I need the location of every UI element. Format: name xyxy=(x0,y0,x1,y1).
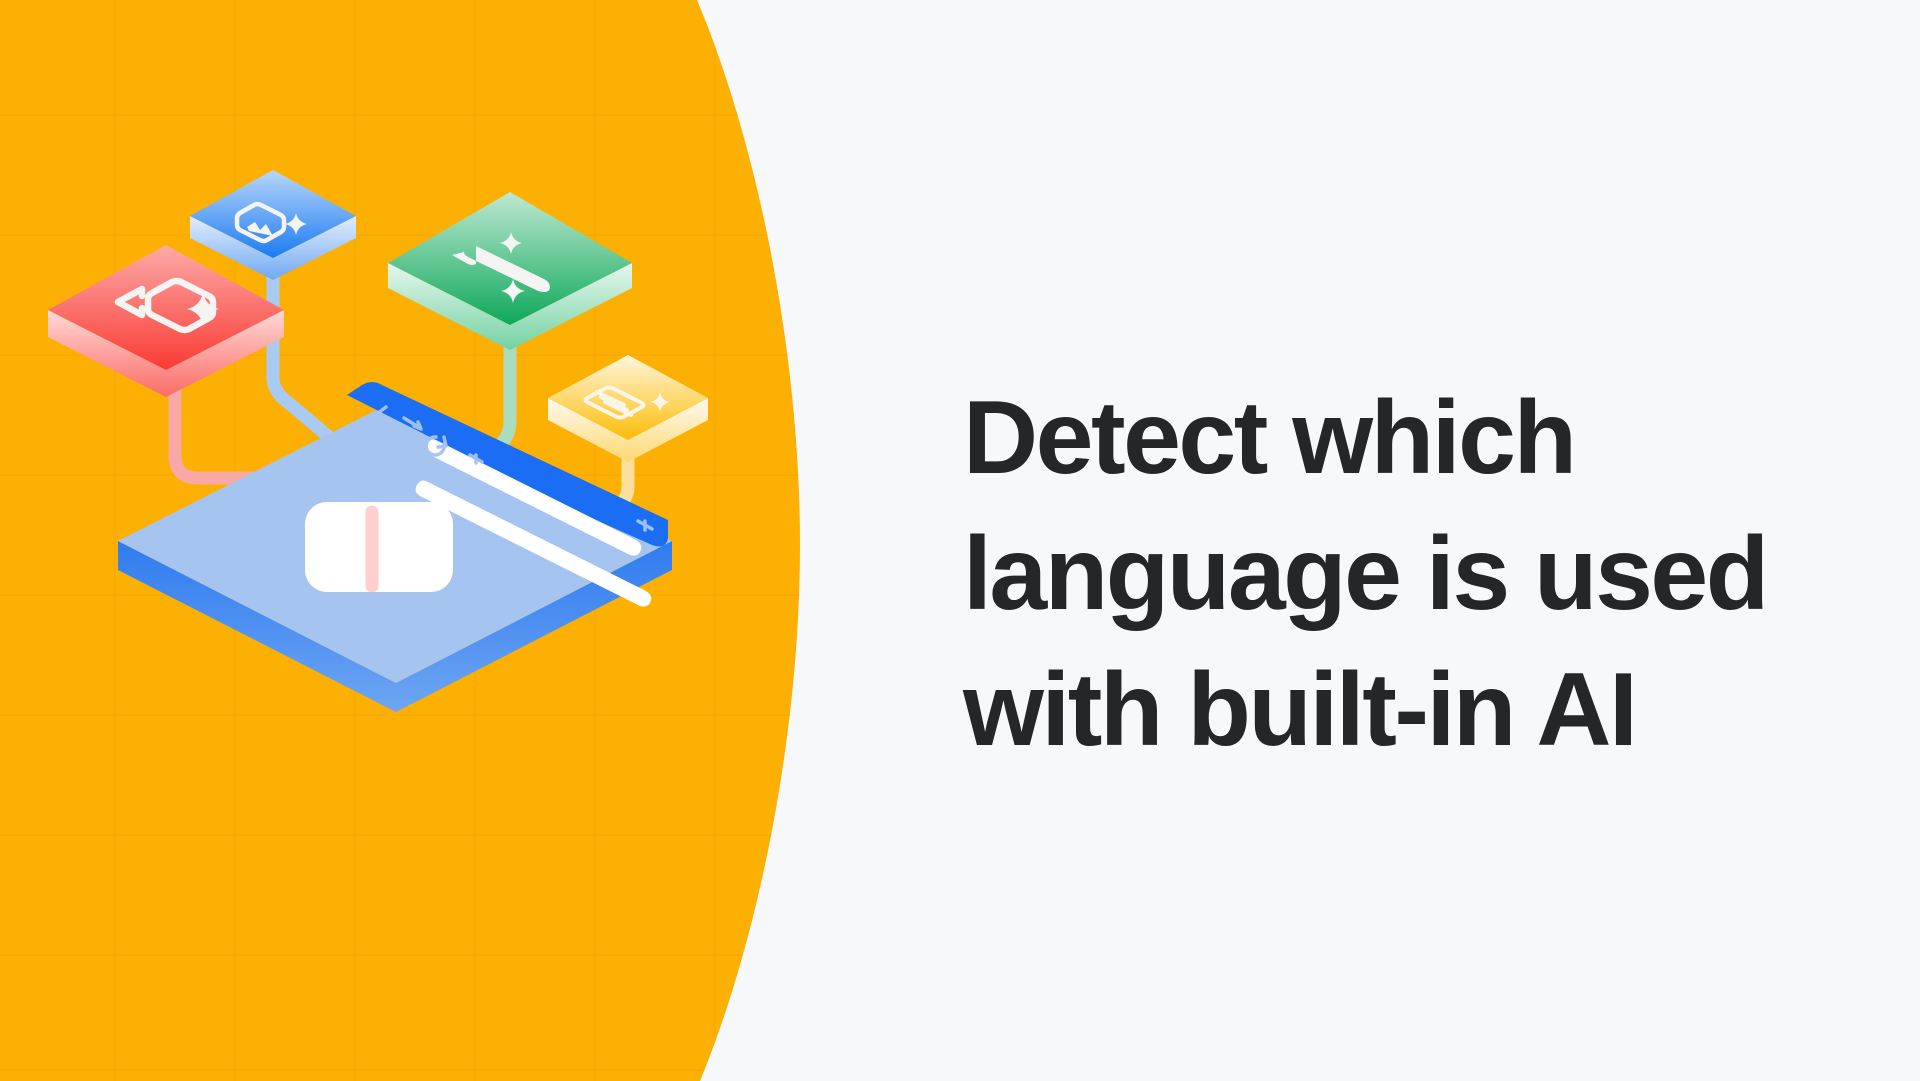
card-summarizer xyxy=(548,355,708,462)
card-rewriter xyxy=(190,170,356,280)
page-headline: Detect which language is used with built… xyxy=(963,370,1803,778)
ai-output-box xyxy=(305,502,453,592)
card-writer xyxy=(388,192,632,350)
page-root: Detect which language is used with built… xyxy=(0,0,1920,1081)
isometric-illustration xyxy=(0,0,900,1081)
card-translator xyxy=(48,245,284,397)
